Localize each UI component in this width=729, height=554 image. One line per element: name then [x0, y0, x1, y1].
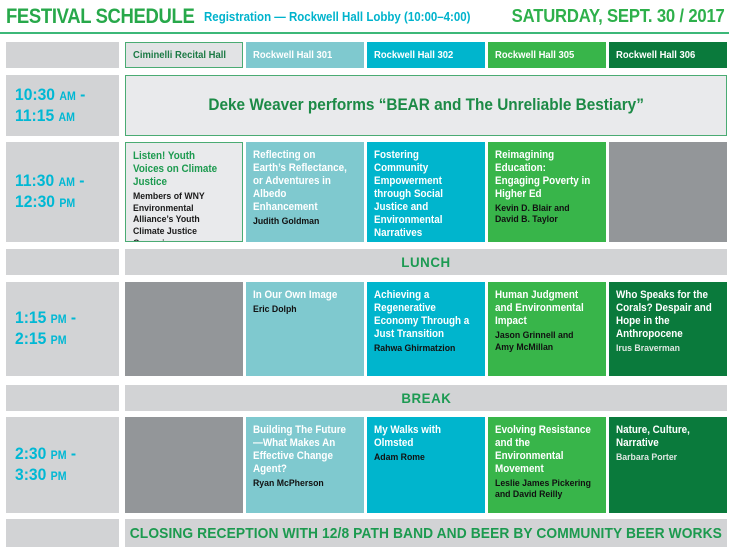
session-title: Listen! Youth Voices on Climate Justice	[133, 150, 228, 189]
session-title: Reimagining Education: Engaging Poverty …	[495, 149, 592, 201]
session-people: Irus Braverman	[616, 342, 713, 354]
break-label: BREAK	[401, 390, 451, 406]
session-card[interactable]: Fostering Community Empowerment through …	[367, 142, 485, 242]
session-title: My Walks with Olmsted	[374, 424, 471, 450]
session-card-empty	[125, 282, 243, 376]
time-start-meridiem: AM	[58, 177, 74, 189]
session-people: Eric Dolph	[253, 303, 350, 315]
session-people: Kevin D. Blair and David B. Taylor	[495, 202, 592, 226]
session-card[interactable]: Human Judgment and Environmental Impact …	[488, 282, 606, 376]
room-header-row: Ciminelli Recital Hall Rockwell Hall 301…	[0, 42, 729, 68]
session-people: Barbara Porter	[616, 451, 713, 463]
time-slot-1030: 10:30 AM - 11:15 AM	[6, 75, 119, 136]
session-card[interactable]: Reflecting on Earth’s Reflectance, or Ad…	[246, 142, 364, 242]
time-start: 11:30	[15, 171, 54, 190]
time-end: 11:15	[15, 106, 54, 125]
closing-reception-label: CLOSING RECEPTION WITH 12/8 PATH BAND AN…	[130, 525, 722, 542]
keynote-title: Deke Weaver performs “BEAR and The Unrel…	[208, 96, 644, 115]
session-card[interactable]: Nature, Culture, Narrative Barbara Porte…	[609, 417, 727, 513]
time-slot-115: 1:15 PM - 2:15 PM	[6, 282, 119, 376]
time-start-meridiem: PM	[51, 314, 67, 326]
schedule-date: SATURDAY, SEPT. 30 / 2017	[512, 5, 725, 27]
room-header-rockwell-301[interactable]: Rockwell Hall 301	[246, 42, 364, 68]
session-people: Leslie James Pickering and David Reilly	[495, 477, 592, 501]
break-time-spacer	[6, 385, 119, 411]
room-header-rockwell-306[interactable]: Rockwell Hall 306	[609, 42, 727, 68]
page-title: FESTIVAL SCHEDULE	[6, 5, 194, 29]
session-card[interactable]: Listen! Youth Voices on Climate Justice …	[125, 142, 243, 242]
room-label: Rockwell Hall 305	[495, 49, 574, 61]
session-title: Evolving Resistance and the Environmenta…	[495, 424, 592, 476]
time-start: 2:30	[15, 444, 46, 463]
time-start-meridiem: PM	[51, 450, 67, 462]
header-divider	[0, 32, 729, 34]
festival-schedule-page: FESTIVAL SCHEDULE Registration — Rockwel…	[0, 0, 729, 554]
room-header-spacer	[6, 42, 119, 68]
time-start-meridiem: AM	[59, 91, 75, 103]
time-end: 2:15	[15, 329, 46, 348]
session-card[interactable]: Reimagining Education: Engaging Poverty …	[488, 142, 606, 242]
session-people: Members of WNY Environmental Alliance’s …	[133, 190, 228, 242]
break-banner: BREAK	[125, 385, 727, 411]
time-end-meridiem: PM	[59, 198, 75, 210]
room-header-ciminelli-recital-hall[interactable]: Ciminelli Recital Hall	[125, 42, 243, 68]
time-end-meridiem: AM	[58, 112, 74, 124]
session-people: Jason Grinnell and Amy McMillan	[495, 329, 592, 353]
session-card[interactable]: My Walks with Olmsted Adam Rome	[367, 417, 485, 513]
header-bar: FESTIVAL SCHEDULE Registration — Rockwel…	[0, 0, 729, 33]
closing-time-spacer	[6, 519, 119, 547]
session-card[interactable]: Achieving a Regenerative Economy Through…	[367, 282, 485, 376]
time-slot-1130: 11:30 AM - 12:30 PM	[6, 142, 119, 242]
session-card-empty	[125, 417, 243, 513]
session-title: Who Speaks for the Corals? Despair and H…	[616, 289, 713, 341]
session-title: Nature, Culture, Narrative	[616, 424, 713, 450]
session-title: Building The Future—What Makes An Effect…	[253, 424, 350, 476]
time-end-meridiem: PM	[51, 471, 67, 483]
time-start: 10:30	[15, 85, 55, 104]
time-end: 3:30	[15, 465, 46, 484]
time-start: 1:15	[15, 308, 46, 327]
registration-info: Registration — Rockwell Hall Lobby (10:0…	[204, 10, 470, 24]
time-slot-230: 2:30 PM - 3:30 PM	[6, 417, 119, 513]
session-title: In Our Own Image	[253, 289, 350, 302]
session-card-empty	[609, 142, 727, 242]
lunch-banner: LUNCH	[125, 249, 727, 275]
session-people: Judith Goldman	[253, 215, 350, 227]
session-title: Achieving a Regenerative Economy Through…	[374, 289, 471, 341]
time-end-meridiem: PM	[51, 335, 67, 347]
session-title: Reflecting on Earth’s Reflectance, or Ad…	[253, 149, 350, 214]
lunch-time-spacer	[6, 249, 119, 275]
session-card[interactable]: Building The Future—What Makes An Effect…	[246, 417, 364, 513]
session-people: Rahwa Ghirmatzion	[374, 342, 471, 354]
session-people: Ryan McPherson	[253, 477, 350, 489]
lunch-label: LUNCH	[401, 254, 450, 270]
time-end: 12:30	[15, 192, 55, 211]
session-card[interactable]: In Our Own Image Eric Dolph	[246, 282, 364, 376]
room-label: Rockwell Hall 306	[616, 49, 695, 61]
session-people: Adam Rome	[374, 451, 471, 463]
room-header-rockwell-305[interactable]: Rockwell Hall 305	[488, 42, 606, 68]
session-title: Human Judgment and Environmental Impact	[495, 289, 592, 328]
keynote-session[interactable]: Deke Weaver performs “BEAR and The Unrel…	[125, 75, 727, 136]
session-people: Erin E. Robinson	[374, 240, 471, 242]
session-title: Fostering Community Empowerment through …	[374, 149, 471, 239]
room-label: Rockwell Hall 302	[374, 49, 453, 61]
room-header-rockwell-302[interactable]: Rockwell Hall 302	[367, 42, 485, 68]
closing-reception-banner: CLOSING RECEPTION WITH 12/8 PATH BAND AN…	[125, 519, 727, 547]
room-label: Rockwell Hall 301	[253, 49, 332, 61]
room-label: Ciminelli Recital Hall	[133, 49, 226, 61]
session-card[interactable]: Who Speaks for the Corals? Despair and H…	[609, 282, 727, 376]
session-card[interactable]: Evolving Resistance and the Environmenta…	[488, 417, 606, 513]
